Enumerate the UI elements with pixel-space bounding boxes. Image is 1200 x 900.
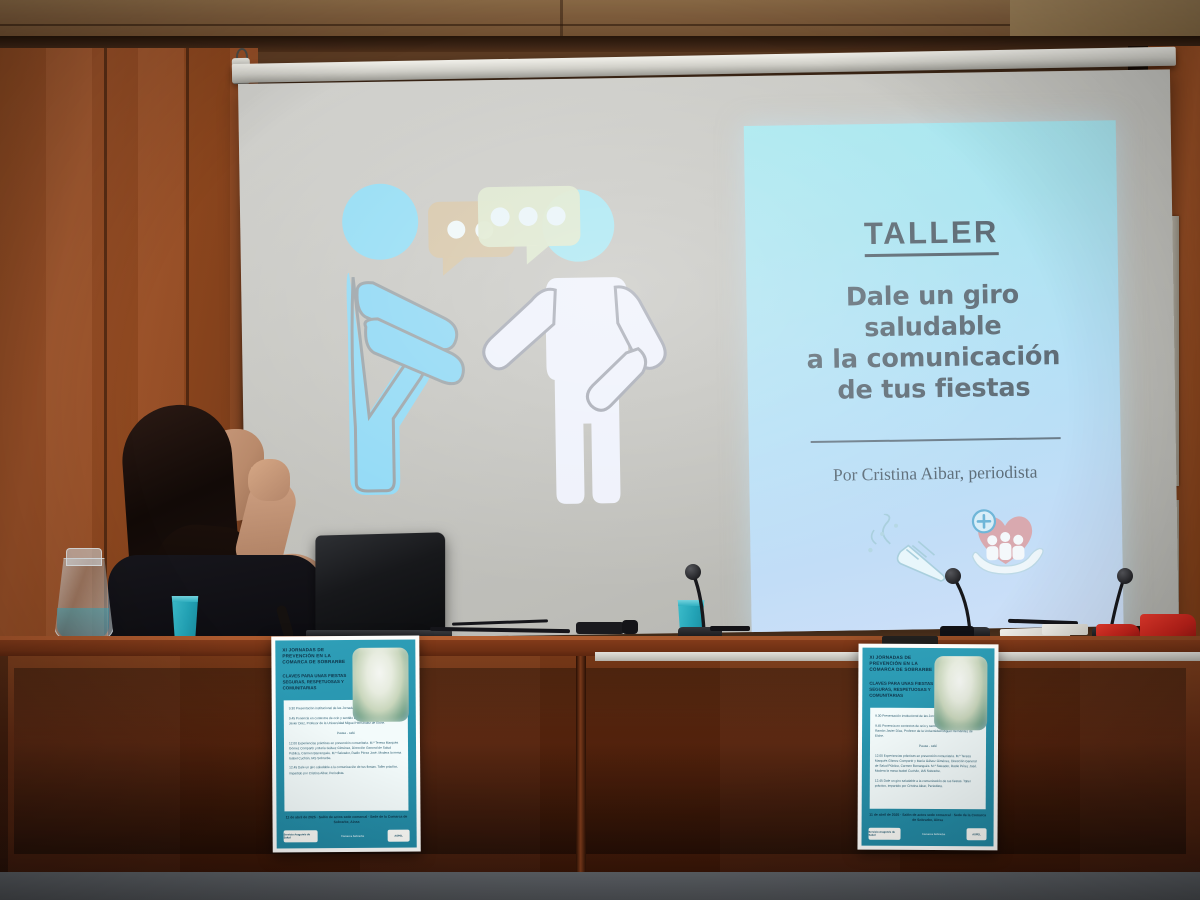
- poster-left: XI JORNADAS DE PREVENCIÓN EN LA COMARCA …: [271, 635, 421, 852]
- table-panel-shadow: [14, 668, 1186, 854]
- speaker-hand: [248, 459, 290, 501]
- slide-divider: [811, 437, 1061, 443]
- microphone-capsule: [685, 564, 701, 580]
- poster-left-footer: 11 de abril de 2025 · Salón de actos sed…: [276, 810, 416, 830]
- poster-left-item-3: Pausa - café: [289, 730, 403, 736]
- poster-left-photo: [352, 648, 409, 722]
- cup-left: [170, 596, 200, 640]
- poster-right-heading: XI JORNADAS DE PREVENCIÓN EN LA COMARCA …: [869, 655, 936, 673]
- table-top-highlight: [0, 636, 1200, 640]
- laptop-lid: [315, 532, 445, 634]
- slide-title-line-3: a la comunicación: [757, 340, 1109, 376]
- desk-clutter: [622, 620, 638, 634]
- pitcher-water: [57, 608, 109, 638]
- table-divider: [576, 656, 586, 878]
- poster-right-logo-3: ASPEL: [967, 828, 987, 840]
- poster-right-item-4: 12.00 Experiencias prácticas en prevenci…: [875, 754, 981, 775]
- poster-left-logo-1: Servicio Aragonés de Salud: [284, 830, 318, 842]
- slide-kicker: TALLER: [745, 212, 1118, 254]
- pitcher-neck: [66, 548, 102, 566]
- poster-left-logo-2: Comarca Sobrarbe: [332, 830, 374, 842]
- desk-papers: [1042, 624, 1088, 635]
- cables: [710, 626, 750, 631]
- slide-author: Por Cristina Aibar, periodista: [749, 460, 1121, 487]
- poster-left-logo-3: ASPEL: [388, 830, 410, 842]
- water-pitcher: [52, 546, 114, 638]
- poster-right-item-5: 12.45 Dale un giro saludable a la comuni…: [875, 778, 981, 789]
- poster-right-photo: [934, 656, 987, 730]
- poster-left-heading: XI JORNADAS DE PREVENCIÓN EN LA COMARCA …: [282, 647, 353, 665]
- cup-rim: [169, 595, 201, 602]
- microphone-capsule: [1117, 568, 1133, 584]
- pictogram-svg: [329, 172, 695, 538]
- laptop[interactable]: [312, 534, 444, 640]
- party-popper-icon: [856, 513, 953, 584]
- conference-room-photo: TALLER Dale un giro saludable a la comun…: [0, 0, 1200, 900]
- two-people-talking-pictogram: [329, 172, 695, 538]
- poster-right: XI JORNADAS DE PREVENCIÓN EN LA COMARCA …: [857, 644, 998, 851]
- desk-clutter: [576, 622, 624, 634]
- poster-left-item-5: 12.45 Dale un giro saludable a la comuni…: [289, 765, 403, 776]
- poster-left-subheading: CLAVES PARA UNAS FIESTAS SEGURAS, RESPET…: [283, 673, 354, 691]
- poster-right-footer: 11 de abril de 2025 · Salón de actos sed…: [862, 808, 994, 828]
- seated-speaker: [108, 405, 338, 655]
- grey-floor: [0, 872, 1200, 900]
- poster-right-logos: Servicio Aragonés de Salud Comarca Sobra…: [861, 828, 993, 847]
- slide-title-line-4: de tus fiestas: [758, 371, 1110, 407]
- poster-right-logo-2: Comarca Sobrarbe: [914, 828, 954, 840]
- ceiling-seam-vertical: [560, 0, 563, 40]
- poster-right-logo-1: Servicio Aragonés de Salud: [869, 828, 901, 840]
- slide-title: Dale un giro saludable a la comunicación…: [756, 278, 1110, 407]
- presentation-slide: TALLER Dale un giro saludable a la comun…: [744, 120, 1124, 636]
- slide-kicker-text: TALLER: [864, 214, 1000, 257]
- poster-left-logos: Servicio Aragonés de Salud Comarca Sobra…: [277, 830, 417, 849]
- poster-right-item-3: Pausa - café: [875, 744, 981, 750]
- poster-left-item-4: 12.00 Experiencias prácticas en prevenci…: [289, 741, 403, 762]
- microphone-capsule: [945, 568, 961, 584]
- poster-right-subheading: CLAVES PARA UNAS FIESTAS SEGURAS, RESPET…: [869, 680, 936, 698]
